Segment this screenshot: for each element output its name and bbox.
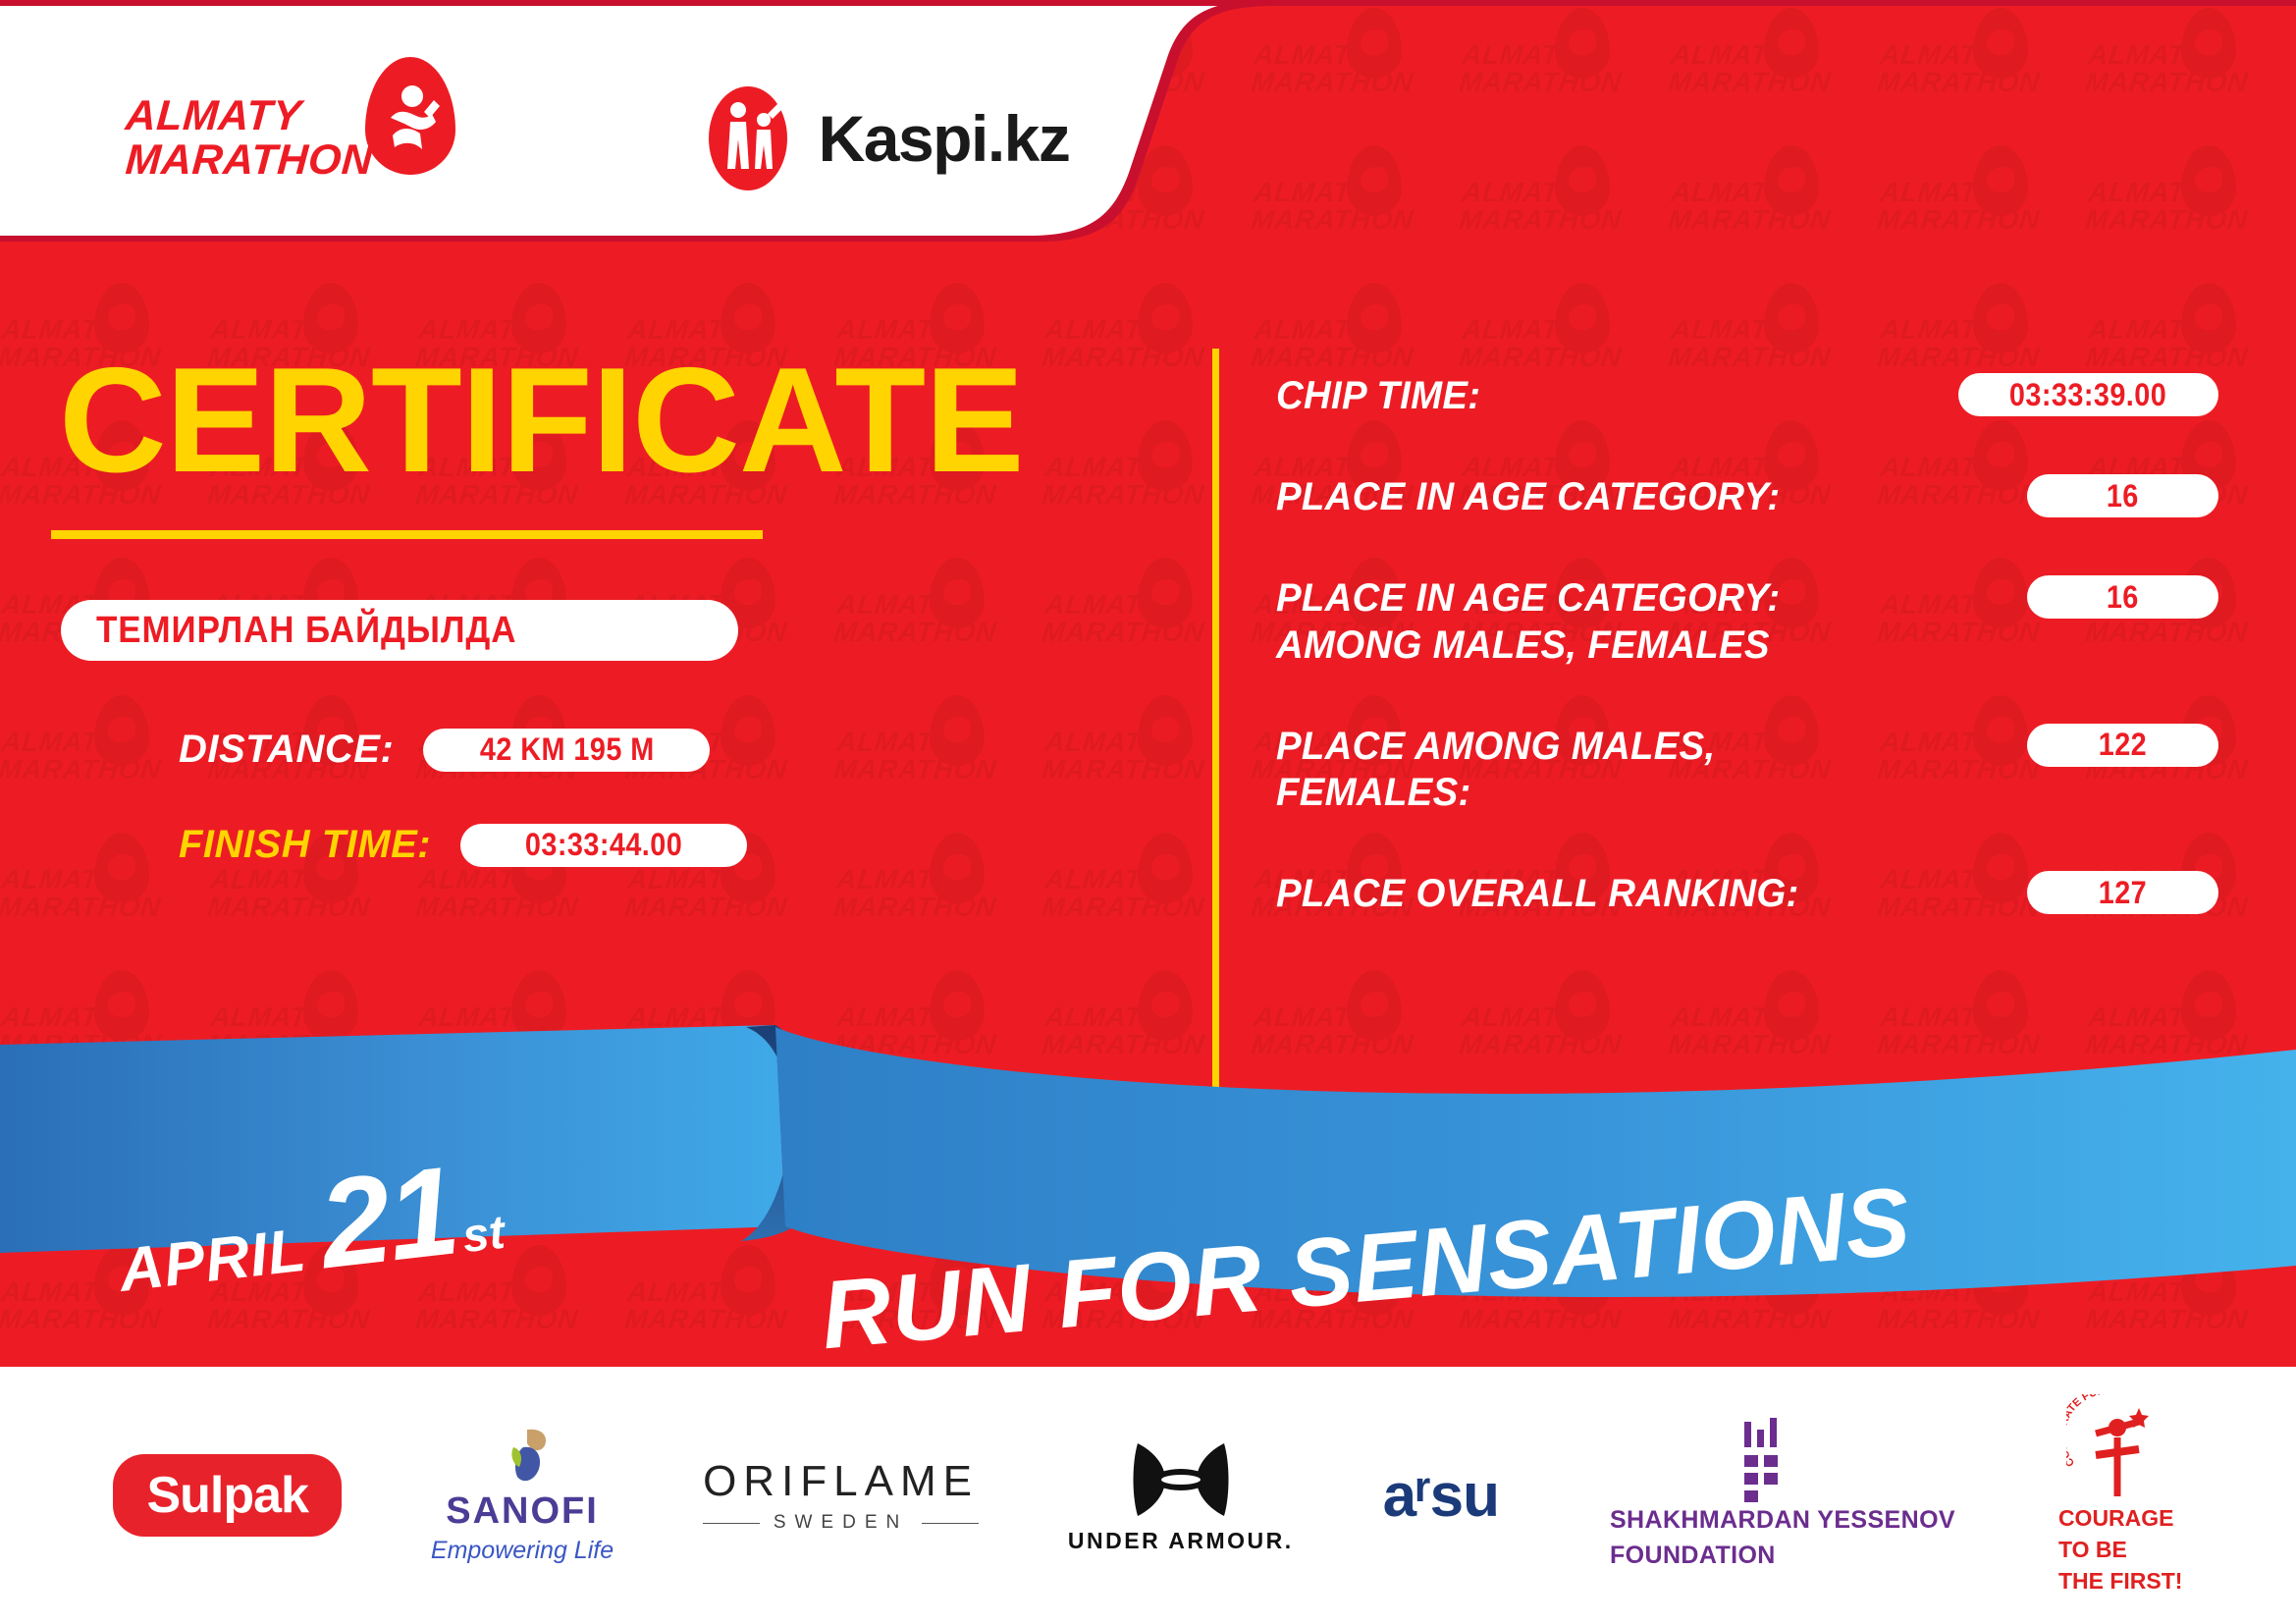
watermark-text: ALMATYMARATHON [1250, 316, 1417, 371]
stat-row: PLACE IN AGE CATEGORY:AMONG MALES, FEMAL… [1276, 575, 2218, 668]
sponsor-under-armour: UNDER ARMOUR. [1068, 1437, 1294, 1554]
results-stats-column: CHIP TIME:03:33:39.00PLACE IN AGE CATEGO… [1276, 373, 2218, 972]
sponsor-yessenov-foundation: SHAKHMARDAN YESSENOV FOUNDATION [1588, 1418, 1955, 1574]
under-armour-icon [1122, 1437, 1240, 1522]
sanofi-mark-icon [484, 1426, 561, 1490]
column-divider [1212, 349, 1219, 1095]
stat-value: 16 [2107, 579, 2139, 616]
kaspi-logo: Kaspi.kz [703, 81, 1070, 196]
sponsor-footer: Sulpak SANOFI Empowering Life ORIFLAME S… [0, 1367, 2296, 1624]
watermark-text: ALMATYMARATHON [1667, 316, 1835, 371]
stat-value-pill: 122 [2027, 724, 2218, 767]
stat-value-pill: 16 [2027, 474, 2218, 517]
stat-value-pill: 127 [2027, 871, 2218, 914]
oriflame-rule-right [922, 1523, 979, 1524]
finish-time-label: FINISH TIME: [179, 823, 431, 867]
stat-row: PLACE AMONG MALES,FEMALES:122 [1276, 724, 2218, 816]
watermark-text: ALMATYMARATHON [1459, 316, 1627, 371]
yessenov-wordmark: SHAKHMARDAN YESSENOV FOUNDATION [1610, 1502, 1955, 1574]
distance-value: 42 KM 195 M [479, 731, 654, 768]
stat-label: PLACE IN AGE CATEGORY: [1276, 474, 1976, 520]
watermark-droplet-icon [1347, 283, 1402, 353]
asu-wordmark: aʳsu [1383, 1461, 1499, 1531]
sponsor-sanofi: SANOFI Empowering Life [431, 1426, 614, 1565]
oriflame-rule-left [703, 1523, 760, 1524]
marathon-label: MARATHON [124, 138, 374, 183]
finish-time-row: FINISH TIME: 03:33:44.00 [179, 823, 1158, 867]
stat-value: 127 [2099, 875, 2147, 911]
oriflame-country: SWEDEN [774, 1512, 908, 1534]
stat-label: CHIP TIME: [1276, 373, 1910, 419]
stat-label: PLACE OVERALL RANKING: [1276, 871, 1976, 917]
courage-line1: COURAGE [2058, 1502, 2183, 1534]
distance-value-pill: 42 KM 195 M [423, 729, 710, 772]
stat-value-pill: 03:33:39.00 [1958, 373, 2218, 416]
courage-line3: THE FIRST! [2058, 1565, 2183, 1597]
sponsor-courage-fund: CORPORATE FUND COURAGE TO BE THE FIRST! [2045, 1394, 2183, 1597]
sponsor-sulpak: Sulpak [113, 1454, 342, 1537]
stat-label: PLACE AMONG MALES,FEMALES: [1276, 724, 1976, 816]
watermark-text: ALMATYMARATHON [1041, 866, 1208, 921]
kaspi-people-icon [703, 81, 793, 196]
yessenov-line1: SHAKHMARDAN YESSENOV [1610, 1502, 1955, 1538]
watermark-text: ALMATYMARATHON [414, 866, 582, 921]
kaspi-wordmark: Kaspi.kz [819, 101, 1070, 176]
almaty-marathon-logo: ALMATY MARATHON [126, 94, 455, 182]
page-title: CERTIFICATE [59, 346, 1158, 495]
sponsor-oriflame: ORIFLAME SWEDEN [703, 1457, 979, 1534]
courage-line2: TO BE [2058, 1534, 2183, 1565]
athlete-name-field: ТЕМИРЛАН БАЙДЫЛДА [61, 600, 738, 661]
certificate-left-column: CERTIFICATE ТЕМИРЛАН БАЙДЫЛДА DISTANCE: … [0, 295, 1158, 867]
finish-time-value-pill: 03:33:44.00 [460, 824, 747, 867]
yessenov-line2: FOUNDATION [1610, 1538, 1955, 1573]
almaty-marathon-wordmark: ALMATY MARATHON [126, 94, 373, 182]
watermark-droplet-icon [2181, 283, 2236, 353]
courage-fund-icon: CORPORATE FUND [2066, 1394, 2161, 1502]
watermark-text: ALMATYMARATHON [206, 866, 374, 921]
athlete-name-value: ТЕМИРЛАН БАЙДЫЛДА [96, 610, 516, 652]
watermark-text: ALMATYMARATHON [2084, 316, 2252, 371]
finish-time-value: 03:33:44.00 [525, 827, 682, 863]
oriflame-sub: SWEDEN [703, 1512, 979, 1534]
watermark-text: ALMATYMARATHON [832, 866, 1000, 921]
title-divider [51, 530, 763, 539]
top-accent-line [0, 0, 2296, 6]
almaty-label: ALMATY [124, 94, 374, 138]
yessenov-bars-icon [1740, 1418, 1803, 1502]
stat-value: 16 [2107, 478, 2139, 514]
watermark-text: ALMATYMARATHON [1876, 316, 2044, 371]
watermark-droplet-icon [1973, 283, 2028, 353]
stat-row: PLACE OVERALL RANKING:127 [1276, 871, 2218, 917]
distance-row: DISTANCE: 42 KM 195 M [179, 728, 1158, 772]
stat-label: PLACE IN AGE CATEGORY:AMONG MALES, FEMAL… [1276, 575, 1976, 668]
logo-row: ALMATY MARATHON [0, 0, 1158, 277]
stat-value: 03:33:39.00 [2009, 377, 2166, 413]
stat-row: PLACE IN AGE CATEGORY:16 [1276, 474, 2218, 520]
sanofi-tagline: Empowering Life [431, 1537, 614, 1565]
watermark-droplet-icon [1764, 283, 1819, 353]
sponsor-asu: aʳsu [1383, 1461, 1499, 1531]
event-day: 21 [314, 1154, 462, 1281]
watermark-droplet-icon [1555, 283, 1610, 353]
runner-glyph-icon [365, 57, 455, 175]
stat-row: CHIP TIME:03:33:39.00 [1276, 373, 2218, 419]
event-day-ordinal: st [459, 1206, 507, 1264]
header: ALMATY MARATHON [0, 0, 2296, 285]
distance-label: DISTANCE: [179, 728, 394, 772]
stat-value-pill: 16 [2027, 575, 2218, 619]
sanofi-wordmark: SANOFI [446, 1490, 599, 1533]
watermark-text: ALMATYMARATHON [623, 866, 791, 921]
certificate-page: ALMATYMARATHONALMATYMARATHONALMATYMARATH… [0, 0, 2296, 1624]
oriflame-wordmark: ORIFLAME [703, 1457, 979, 1506]
watermark-text: ALMATYMARATHON [0, 866, 165, 921]
under-armour-wordmark: UNDER ARMOUR. [1068, 1528, 1294, 1554]
almaty-marathon-droplet-runner-icon [365, 57, 455, 175]
sulpak-logo: Sulpak [113, 1454, 342, 1537]
stat-value: 122 [2099, 727, 2147, 763]
courage-wordmark: COURAGE TO BE THE FIRST! [2058, 1502, 2183, 1597]
kaspi-mark-svg [703, 81, 793, 196]
